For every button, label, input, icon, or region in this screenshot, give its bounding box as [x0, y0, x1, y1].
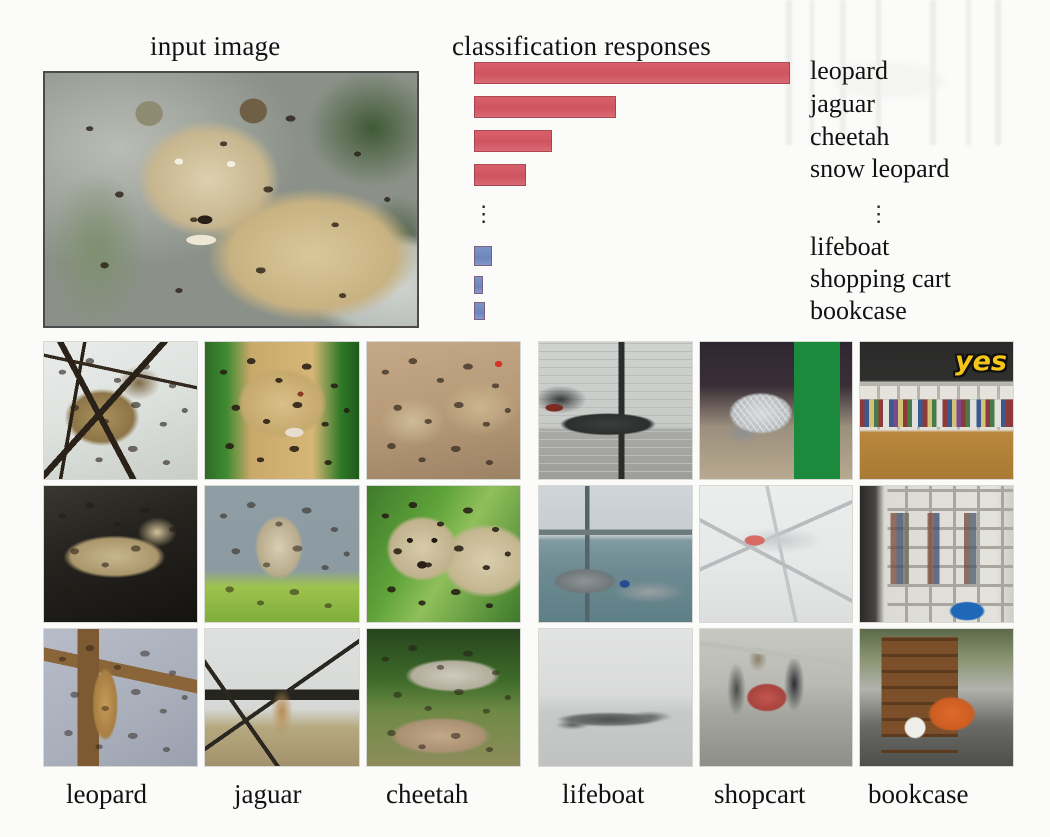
bar-label-jaguar: jaguar [810, 91, 875, 117]
grid-cell-cheetah-cub-standing-grass [204, 485, 359, 624]
grid-cell-people-carrying-red-cart [699, 628, 854, 767]
bar-label-leopard: leopard [810, 58, 888, 84]
yes-overlay-text: yes [955, 346, 1007, 377]
bar-row-leopard [474, 62, 790, 84]
input-image-title: input image [150, 31, 280, 62]
input-image-photo [43, 71, 419, 328]
classification-bar-chart: ⋮ leopard jaguar cheetah snow leopard ⋮ … [474, 62, 1034, 332]
grid-cell-overturned-shopping-cart [699, 485, 854, 624]
grid-cell-cheetahs-on-dry-ground [366, 341, 521, 480]
grid-cell-jaguar-head-in-green-grass [204, 341, 359, 480]
bar-row-bookcase [474, 302, 485, 320]
grid-cell-white-bookshelves-room [859, 485, 1014, 624]
grid-cell-leopard-in-bare-tree [43, 341, 198, 480]
grid-cell-cheetah-lying-in-grass [366, 628, 521, 767]
footer-label-leopard: leopard [66, 779, 147, 810]
grid-cell-man-moving-wooden-bookcase [859, 628, 1014, 767]
grid-cell-leopard-lying-on-rock [43, 485, 198, 624]
grid-cell-ship-in-harbour [538, 485, 693, 624]
footer-label-jaguar: jaguar [234, 779, 301, 810]
bar-label-snow-leopard: snow leopard [810, 156, 949, 182]
footer-label-shopcart: shopcart [714, 779, 805, 810]
bar-row-lifeboat [474, 246, 492, 266]
left-image-grid [43, 341, 521, 767]
footer-label-bookcase: bookcase [868, 779, 968, 810]
bar-chart-ellipsis: ⋮ [478, 202, 490, 227]
bar-label-lifeboat: lifeboat [810, 234, 889, 260]
grid-cell-cheetah-face-closeup [366, 485, 521, 624]
right-image-grid: yes [538, 341, 1014, 767]
footer-label-cheetah: cheetah [386, 779, 468, 810]
bar-row-jaguar [474, 96, 616, 118]
bar-lifeboat [474, 246, 492, 266]
bar-row-shopping-cart [474, 276, 483, 294]
grid-cell-leopard-hanging-from-trunk [43, 628, 198, 767]
bar-leopard [474, 62, 790, 84]
classification-responses-title: classification responses [452, 31, 711, 62]
bar-bookcase [474, 302, 485, 320]
bar-label-ellipsis: ⋮ [873, 202, 885, 227]
footer-label-lifeboat: lifeboat [562, 779, 644, 810]
bar-jaguar [474, 96, 616, 118]
bar-label-bookcase: bookcase [810, 298, 907, 324]
bar-cheetah [474, 130, 552, 152]
bar-row-cheetah [474, 130, 552, 152]
grid-cell-leopard-on-wall-bare-tree [204, 628, 359, 767]
bar-label-shopping-cart: shopping cart [810, 266, 951, 292]
bar-snow-leopard [474, 164, 526, 186]
grid-cell-boat-on-grey-water-bw [538, 628, 693, 767]
grid-cell-bookcase-tv-studio-yes: yes [859, 341, 1014, 480]
bar-label-cheetah: cheetah [810, 124, 889, 150]
grid-cell-inflatable-boat-by-wall [538, 341, 693, 480]
grid-cell-carts-by-green-dumpster [699, 341, 854, 480]
bar-row-snow-leopard [474, 164, 526, 186]
bar-shopping-cart [474, 276, 483, 294]
